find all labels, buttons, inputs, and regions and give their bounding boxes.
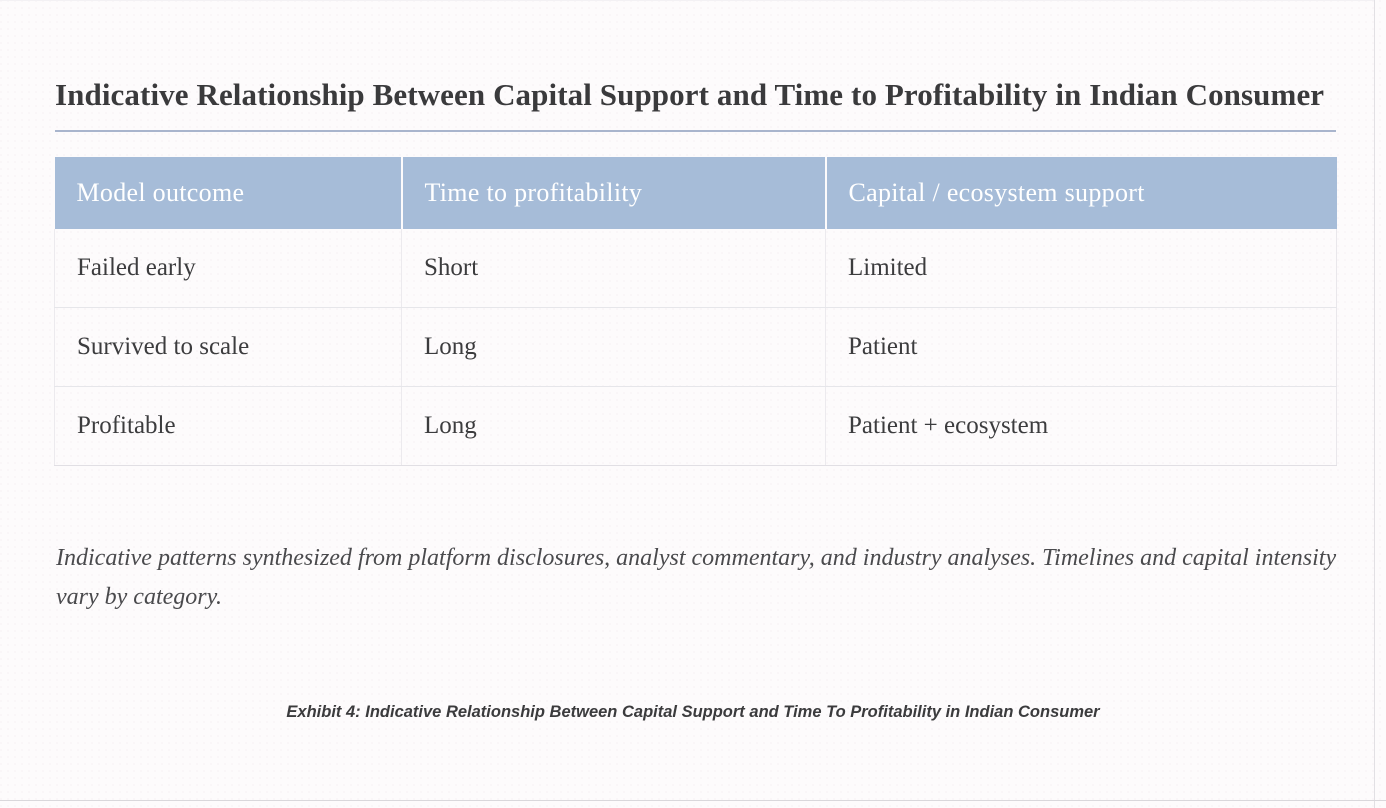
table-body: Failed early Short Limited Survived to s… [55,229,1337,466]
page-edge-top [0,0,1374,1]
table-row: Profitable Long Patient + ecosystem [55,387,1337,466]
page-edge-bottom [0,800,1386,801]
cell-capital-support: Patient [826,308,1337,387]
exhibit-table: Model outcome Time to profitability Capi… [54,157,1337,466]
column-header-time-to-profitability: Time to profitability [402,157,826,229]
table-header-row: Model outcome Time to profitability Capi… [55,157,1337,229]
cell-time-to-profitability: Long [402,387,826,466]
cell-time-to-profitability: Long [402,308,826,387]
cell-capital-support: Patient + ecosystem [826,387,1337,466]
table-row: Failed early Short Limited [55,229,1337,308]
title-divider-rule [55,130,1336,132]
cell-model-outcome: Profitable [55,387,402,466]
cell-time-to-profitability: Short [402,229,826,308]
table-row: Survived to scale Long Patient [55,308,1337,387]
cell-model-outcome: Survived to scale [55,308,402,387]
page-title: Indicative Relationship Between Capital … [55,76,1355,115]
cell-capital-support: Limited [826,229,1337,308]
column-header-capital-ecosystem-support: Capital / ecosystem support [826,157,1337,229]
cell-model-outcome: Failed early [55,229,402,308]
column-header-model-outcome: Model outcome [55,157,402,229]
exhibit-caption: Exhibit 4: Indicative Relationship Betwe… [0,703,1386,722]
table-header: Model outcome Time to profitability Capi… [55,157,1337,229]
page-edge-right [1374,0,1375,808]
slide-canvas: Indicative Relationship Between Capital … [0,0,1386,808]
footnote-text: Indicative patterns synthesized from pla… [56,539,1356,617]
